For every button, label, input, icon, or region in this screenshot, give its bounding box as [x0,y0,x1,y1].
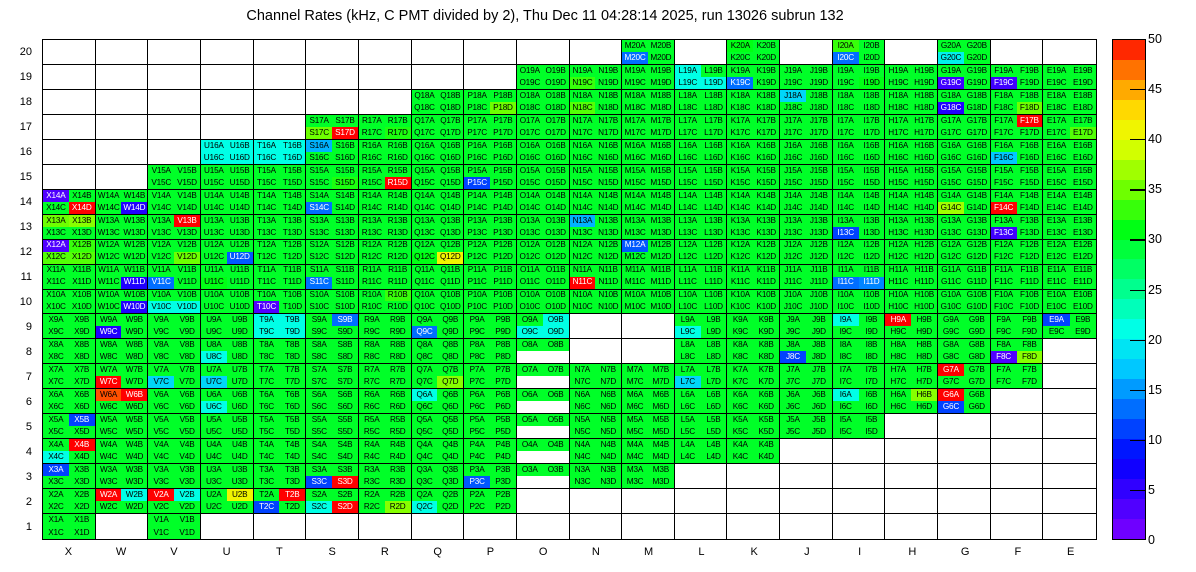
channel-U5B[interactable]: U5B [227,414,253,426]
channel-L17A[interactable]: L17A [675,115,701,127]
channel-cell-J3[interactable] [780,464,833,489]
channel-Q13C[interactable]: Q13C [412,227,438,239]
channel-O9C[interactable]: O9C [517,326,543,338]
channel-H17A[interactable]: H17A [885,115,911,127]
channel-L15B[interactable]: L15B [701,165,727,177]
channel-T14A[interactable]: T14A [254,190,280,202]
channel-V5C[interactable]: V5C [148,426,174,438]
channel-P18D[interactable]: P18D [490,102,516,114]
channel-cell-S10[interactable]: S10AS10BS10CS10D [306,290,359,315]
channel-X10D[interactable]: X10D [69,301,95,313]
channel-cell-H15[interactable]: H15AH15BH15CH15D [885,165,938,190]
channel-H17D[interactable]: H17D [911,127,937,139]
channel-F15D[interactable]: F15D [1017,177,1043,189]
channel-cell-W17[interactable] [96,115,149,140]
channel-J17C[interactable]: J17C [780,127,806,139]
channel-L12A[interactable]: L12A [675,240,701,252]
channel-X4C[interactable]: X4C [43,451,69,463]
channel-H12D[interactable]: H12D [911,252,937,264]
channel-S15D[interactable]: S15D [332,177,358,189]
channel-S2B[interactable]: S2B [332,489,358,501]
channel-T5A[interactable]: T5A [254,414,280,426]
channel-cell-K14[interactable]: K14AK14BK14CK14D [727,190,780,215]
channel-T15D[interactable]: T15D [279,177,305,189]
channel-cell-L9[interactable]: L9AL9BL9CL9D [675,314,728,339]
channel-K19D[interactable]: K19D [753,77,779,89]
channel-U2D[interactable]: U2D [227,501,253,513]
channel-M19D[interactable]: M19D [648,77,674,89]
channel-R15B[interactable]: R15B [385,165,411,177]
channel-G13C[interactable]: G13C [938,227,964,239]
channel-G10D[interactable]: G10D [964,301,990,313]
channel-cell-W19[interactable] [96,65,149,90]
channel-cell-L6[interactable]: L6AL6BL6CL6D [675,389,728,414]
channel-E9B[interactable]: E9B [1070,314,1096,326]
channel-P5A[interactable]: P5A [464,414,490,426]
channel-X3C[interactable]: X3C [43,476,69,488]
channel-K15C[interactable]: K15C [727,177,753,189]
channel-W11A[interactable]: W11A [96,265,122,277]
channel-cell-X18[interactable] [43,90,96,115]
channel-V3C[interactable]: V3C [148,476,174,488]
channel-cell-M8[interactable] [622,339,675,364]
channel-N16C[interactable]: N16C [570,152,596,164]
channel-J13D[interactable]: J13D [806,227,832,239]
channel-O10B[interactable]: O10B [543,290,569,302]
channel-O15A[interactable]: O15A [517,165,543,177]
channel-F10A[interactable]: F10A [991,290,1017,302]
channel-U15A[interactable]: U15A [201,165,227,177]
channel-U12C[interactable]: U12C [201,252,227,264]
channel-M13A[interactable]: M13A [622,215,648,227]
channel-cell-J18[interactable]: J18AJ18BJ18CJ18D [780,90,833,115]
channel-L4D[interactable]: L4D [701,451,727,463]
channel-V13A[interactable]: V13A [148,215,174,227]
channel-cell-L2[interactable] [675,489,728,514]
channel-O13B[interactable]: O13B [543,215,569,227]
channel-cell-N20[interactable] [570,40,623,65]
channel-V11D[interactable]: V11D [174,277,200,289]
channel-cell-V7[interactable]: V7AV7BV7CV7D [148,364,201,389]
channel-U9B[interactable]: U9B [227,314,253,326]
channel-cell-V10[interactable]: V10AV10BV10CV10D [148,290,201,315]
channel-U8D[interactable]: U8D [227,351,253,363]
channel-S12D[interactable]: S12D [332,252,358,264]
channel-P4D[interactable]: P4D [490,451,516,463]
channel-M13B[interactable]: M13B [648,215,674,227]
channel-R9B[interactable]: R9B [385,314,411,326]
channel-T8D[interactable]: T8D [279,351,305,363]
channel-G13A[interactable]: G13A [938,215,964,227]
channel-cell-N9[interactable] [570,314,623,339]
channel-T16B[interactable]: T16B [279,140,305,152]
channel-cell-S3[interactable]: S3AS3BS3CS3D [306,464,359,489]
channel-X4A[interactable]: X4A [43,439,69,451]
channel-cell-H4[interactable] [885,439,938,464]
channel-cell-R13[interactable]: R13AR13BR13CR13D [359,215,412,240]
channel-P12B[interactable]: P12B [490,240,516,252]
channel-R10C[interactable]: R10C [359,301,385,313]
channel-T11C[interactable]: T11C [254,277,280,289]
channel-Q5D[interactable]: Q5D [437,426,463,438]
channel-K19B[interactable]: K19B [753,65,779,77]
channel-V1D[interactable]: V1D [174,527,200,539]
channel-cell-R2[interactable]: R2AR2BR2CR2D [359,489,412,514]
channel-V10D[interactable]: V10D [174,301,200,313]
channel-H18A[interactable]: H18A [885,90,911,102]
channel-cell-F9[interactable]: F9AF9BF9CF9D [991,314,1044,339]
channel-W5B[interactable]: W5B [121,414,147,426]
channel-H15D[interactable]: H15D [911,177,937,189]
channel-cell-T3[interactable]: T3AT3BT3CT3D [254,464,307,489]
channel-K9B[interactable]: K9B [753,314,779,326]
channel-cell-N16[interactable]: N16AN16BN16CN16D [570,140,623,165]
channel-F9C[interactable]: F9C [991,326,1017,338]
channel-N10B[interactable]: N10B [595,290,621,302]
channel-H7D[interactable]: H7D [911,376,937,388]
channel-M4B[interactable]: M4B [648,439,674,451]
channel-cell-U13[interactable]: U13AU13BU13CU13D [201,215,254,240]
channel-P3B[interactable]: P3B [490,464,516,476]
channel-G18B[interactable]: G18B [964,90,990,102]
channel-cell-X9[interactable]: X9AX9BX9CX9D [43,314,96,339]
channel-cell-U19[interactable] [201,65,254,90]
channel-R12D[interactable]: R12D [385,252,411,264]
channel-cell-Q13[interactable]: Q13AQ13BQ13CQ13D [412,215,465,240]
channel-S5B[interactable]: S5B [332,414,358,426]
channel-U7D[interactable]: U7D [227,376,253,388]
channel-U8A[interactable]: U8A [201,339,227,351]
channel-V11C[interactable]: V11C [148,277,174,289]
channel-I18B[interactable]: I18B [859,90,885,102]
channel-I13A[interactable]: I13A [833,215,859,227]
channel-cell-F13[interactable]: F13AF13BF13CF13D [991,215,1044,240]
channel-H10D[interactable]: H10D [911,301,937,313]
channel-cell-N17[interactable]: N17AN17BN17CN17D [570,115,623,140]
channel-cell-E5[interactable] [1043,414,1096,439]
channel-H18C[interactable]: H18C [885,102,911,114]
channel-M6B[interactable]: M6B [648,389,674,401]
channel-K13A[interactable]: K13A [727,215,753,227]
channel-R15C[interactable]: R15C [359,177,385,189]
channel-U3A[interactable]: U3A [201,464,227,476]
channel-cell-T9[interactable]: T9AT9BT9CT9D [254,314,307,339]
channel-P16A[interactable]: P16A [464,140,490,152]
channel-cell-W10[interactable]: W10AW10BW10CW10D [96,290,149,315]
channel-U16C[interactable]: U16C [201,152,227,164]
channel-L6A[interactable]: L6A [675,389,701,401]
channel-P4A[interactable]: P4A [464,439,490,451]
channel-cell-E14[interactable]: E14AE14BE14CE14D [1043,190,1096,215]
channel-K17C[interactable]: K17C [727,127,753,139]
channel-Q16D[interactable]: Q16D [437,152,463,164]
channel-X1A[interactable]: X1A [43,514,69,526]
channel-E11A[interactable]: E11A [1043,265,1069,277]
channel-P9B[interactable]: P9B [490,314,516,326]
channel-U10D[interactable]: U10D [227,301,253,313]
channel-T9D[interactable]: T9D [279,326,305,338]
channel-W7A[interactable]: W7A [96,364,122,376]
channel-U2C[interactable]: U2C [201,501,227,513]
channel-L17C[interactable]: L17C [675,127,701,139]
channel-cell-U11[interactable]: U11AU11BU11CU11D [201,265,254,290]
channel-cell-J8[interactable]: J8AJ8BJ8CJ8D [780,339,833,364]
channel-cell-H1[interactable] [885,514,938,539]
channel-Q2B[interactable]: Q2B [437,489,463,501]
channel-P11A[interactable]: P11A [464,265,490,277]
channel-cell-M10[interactable]: M10AM10BM10CM10D [622,290,675,315]
channel-cell-F7[interactable]: F7AF7BF7CF7D [991,364,1044,389]
channel-T12D[interactable]: T12D [279,252,305,264]
channel-U13D[interactable]: U13D [227,227,253,239]
channel-G15C[interactable]: G15C [938,177,964,189]
channel-T14B[interactable]: T14B [279,190,305,202]
channel-cell-I12[interactable]: I12AI12BI12CI12D [833,240,886,265]
channel-cell-E20[interactable] [1043,40,1096,65]
channel-S11B[interactable]: S11B [332,265,358,277]
channel-M12B[interactable]: M12B [648,240,674,252]
channel-F13A[interactable]: F13A [991,215,1017,227]
channel-cell-N10[interactable]: N10AN10BN10CN10D [570,290,623,315]
channel-J18C[interactable]: J18C [780,102,806,114]
channel-cell-K8[interactable]: K8AK8BK8CK8D [727,339,780,364]
channel-Q8C[interactable]: Q8C [412,351,438,363]
channel-cell-E1[interactable] [1043,514,1096,539]
channel-L13B[interactable]: L13B [701,215,727,227]
channel-P9D[interactable]: P9D [490,326,516,338]
channel-cell-K18[interactable]: K18AK18BK18CK18D [727,90,780,115]
channel-Q9B[interactable]: Q9B [437,314,463,326]
channel-R8A[interactable]: R8A [359,339,385,351]
channel-J13A[interactable]: J13A [780,215,806,227]
channel-cell-Q10[interactable]: Q10AQ10BQ10CQ10D [412,290,465,315]
channel-L13C[interactable]: L13C [675,227,701,239]
channel-P6A[interactable]: P6A [464,389,490,401]
channel-P9C[interactable]: P9C [464,326,490,338]
channel-U14A[interactable]: U14A [201,190,227,202]
channel-cell-K15[interactable]: K15AK15BK15CK15D [727,165,780,190]
channel-F18C[interactable]: F18C [991,102,1017,114]
channel-V15A[interactable]: V15A [148,165,174,177]
channel-S5C[interactable]: S5C [306,426,332,438]
channel-V8D[interactable]: V8D [174,351,200,363]
channel-V9A[interactable]: V9A [148,314,174,326]
channel-W5C[interactable]: W5C [96,426,122,438]
channel-Q4C[interactable]: Q4C [412,451,438,463]
channel-L4A[interactable]: L4A [675,439,701,451]
channel-X13D[interactable]: X13D [69,227,95,239]
channel-L12C[interactable]: L12C [675,252,701,264]
channel-K11D[interactable]: K11D [753,277,779,289]
channel-R2D[interactable]: R2D [385,501,411,513]
channel-M3A[interactable]: M3A [622,464,648,476]
channel-F13C[interactable]: F13C [991,227,1017,239]
channel-N7C[interactable]: N7C [570,376,596,388]
channel-cell-U7[interactable]: U7AU7BU7CU7D [201,364,254,389]
channel-T4C[interactable]: T4C [254,451,280,463]
channel-S3C[interactable]: S3C [306,476,332,488]
channel-cell-W2[interactable]: W2AW2BW2CW2D [96,489,149,514]
channel-N5A[interactable]: N5A [570,414,596,426]
channel-T5C[interactable]: T5C [254,426,280,438]
channel-cell-G8[interactable]: G8AG8BG8CG8D [938,339,991,364]
channel-E18A[interactable]: E18A [1043,90,1069,102]
channel-F12D[interactable]: F12D [1017,252,1043,264]
channel-L9D[interactable]: L9D [701,326,727,338]
channel-F7D[interactable]: F7D [1017,376,1043,388]
channel-T10B[interactable]: T10B [279,290,305,302]
channel-cell-X5[interactable]: X5AX5BX5CX5D [43,414,96,439]
channel-S3B[interactable]: S3B [332,464,358,476]
channel-S5A[interactable]: S5A [306,414,332,426]
channel-L19D[interactable]: L19D [701,77,727,89]
channel-P10A[interactable]: P10A [464,290,490,302]
channel-X8A[interactable]: X8A [43,339,69,351]
channel-cell-P6[interactable]: P6AP6BP6CP6D [464,389,517,414]
channel-S2D[interactable]: S2D [332,501,358,513]
channel-cell-J14[interactable]: J14AJ14BJ14CJ14D [780,190,833,215]
channel-cell-F20[interactable] [991,40,1044,65]
channel-W7C[interactable]: W7C [96,376,122,388]
channel-I17D[interactable]: I17D [859,127,885,139]
channel-cell-G12[interactable]: G12AG12BG12CG12D [938,240,991,265]
channel-M11C[interactable]: M11C [622,277,648,289]
channel-H13D[interactable]: H13D [911,227,937,239]
channel-U12A[interactable]: U12A [201,240,227,252]
channel-cell-F4[interactable] [991,439,1044,464]
channel-L8B[interactable]: L8B [701,339,727,351]
channel-T9C[interactable]: T9C [254,326,280,338]
channel-X11A[interactable]: X11A [43,265,69,277]
channel-M19C[interactable]: M19C [622,77,648,89]
channel-V6A[interactable]: V6A [148,389,174,401]
channel-cell-X20[interactable] [43,40,96,65]
channel-E14D[interactable]: E14D [1070,202,1096,214]
channel-H19B[interactable]: H19B [911,65,937,77]
channel-J15A[interactable]: J15A [780,165,806,177]
channel-M16D[interactable]: M16D [648,152,674,164]
channel-H6B[interactable]: H6B [911,389,937,401]
channel-T8C[interactable]: T8C [254,351,280,363]
channel-S16B[interactable]: S16B [332,140,358,152]
channel-Q15D[interactable]: Q15D [437,177,463,189]
channel-T7B[interactable]: T7B [279,364,305,376]
channel-S8D[interactable]: S8D [332,351,358,363]
channel-L6B[interactable]: L6B [701,389,727,401]
channel-G17A[interactable]: G17A [938,115,964,127]
channel-R16A[interactable]: R16A [359,140,385,152]
channel-L5A[interactable]: L5A [675,414,701,426]
channel-K11A[interactable]: K11A [727,265,753,277]
channel-R14A[interactable]: R14A [359,190,385,202]
channel-F19D[interactable]: F19D [1017,77,1043,89]
channel-cell-E3[interactable] [1043,464,1096,489]
channel-O8A[interactable]: O8A [517,339,543,351]
channel-cell-W7[interactable]: W7AW7BW7CW7D [96,364,149,389]
channel-N15A[interactable]: N15A [570,165,596,177]
channel-cell-T10[interactable]: T10AT10BT10CT10D [254,290,307,315]
channel-W6C[interactable]: W6C [96,401,122,413]
channel-V1B[interactable]: V1B [174,514,200,526]
channel-K7B[interactable]: K7B [753,364,779,376]
channel-K18D[interactable]: K18D [753,102,779,114]
channel-G18A[interactable]: G18A [938,90,964,102]
channel-J16D[interactable]: J16D [806,152,832,164]
channel-I15D[interactable]: I15D [859,177,885,189]
channel-K14A[interactable]: K14A [727,190,753,202]
channel-S14A[interactable]: S14A [306,190,332,202]
channel-R12B[interactable]: R12B [385,240,411,252]
channel-cell-O9[interactable]: O9AO9BO9CO9D [517,314,570,339]
channel-X5B[interactable]: X5B [69,414,95,426]
channel-cell-O15[interactable]: O15AO15BO15CO15D [517,165,570,190]
channel-F8C[interactable]: F8C [991,351,1017,363]
channel-T14D[interactable]: T14D [279,202,305,214]
channel-J12C[interactable]: J12C [780,252,806,264]
channel-H12B[interactable]: H12B [911,240,937,252]
channel-T2D[interactable]: T2D [279,501,305,513]
channel-N18A[interactable]: N18A [570,90,596,102]
channel-Q9A[interactable]: Q9A [412,314,438,326]
channel-cell-V3[interactable]: V3AV3BV3CV3D [148,464,201,489]
channel-cell-I5[interactable]: I5AI5BI5CI5D [833,414,886,439]
channel-P15B[interactable]: P15B [490,165,516,177]
channel-K4D[interactable]: K4D [753,451,779,463]
channel-cell-J13[interactable]: J13AJ13BJ13CJ13D [780,215,833,240]
channel-N14D[interactable]: N14D [595,202,621,214]
channel-S7A[interactable]: S7A [306,364,332,376]
channel-R13A[interactable]: R13A [359,215,385,227]
channel-cell-H16[interactable]: H16AH16BH16CH16D [885,140,938,165]
channel-cell-X14[interactable]: X14AX14BX14CX14D [43,190,96,215]
channel-cell-J16[interactable]: J16AJ16BJ16CJ16D [780,140,833,165]
channel-Q18D[interactable]: Q18D [437,102,463,114]
channel-J12B[interactable]: J12B [806,240,832,252]
channel-cell-G13[interactable]: G13AG13BG13CG13D [938,215,991,240]
channel-E15A[interactable]: E15A [1043,165,1069,177]
channel-K8C[interactable]: K8C [727,351,753,363]
channel-Q17B[interactable]: Q17B [437,115,463,127]
channel-X1C[interactable]: X1C [43,527,69,539]
channel-cell-E4[interactable] [1043,439,1096,464]
channel-H6C[interactable]: H6C [885,401,911,413]
channel-cell-R8[interactable]: R8AR8BR8CR8D [359,339,412,364]
channel-Q12C[interactable]: Q12C [412,252,438,264]
channel-cell-R4[interactable]: R4AR4BR4CR4D [359,439,412,464]
channel-cell-I6[interactable]: I6AI6BI6CI6D [833,389,886,414]
channel-W13A[interactable]: W13A [96,215,122,227]
channel-cell-G19[interactable]: G19AG19BG19CG19D [938,65,991,90]
channel-cell-S9[interactable]: S9AS9BS9CS9D [306,314,359,339]
channel-L18C[interactable]: L18C [675,102,701,114]
channel-cell-P20[interactable] [464,40,517,65]
channel-V10C[interactable]: V10C [148,301,174,313]
channel-N3D[interactable]: N3D [595,476,621,488]
channel-M3B[interactable]: M3B [648,464,674,476]
channel-cell-W16[interactable] [96,140,149,165]
channel-cell-X11[interactable]: X11AX11BX11CX11D [43,265,96,290]
channel-cell-U10[interactable]: U10AU10BU10CU10D [201,290,254,315]
channel-J19C[interactable]: J19C [780,77,806,89]
channel-J6C[interactable]: J6C [780,401,806,413]
channel-R5C[interactable]: R5C [359,426,385,438]
channel-G12D[interactable]: G12D [964,252,990,264]
channel-T15C[interactable]: T15C [254,177,280,189]
channel-L10B[interactable]: L10B [701,290,727,302]
channel-cell-V18[interactable] [148,90,201,115]
channel-cell-J20[interactable] [780,40,833,65]
channel-N18C[interactable]: N18C [570,102,596,114]
